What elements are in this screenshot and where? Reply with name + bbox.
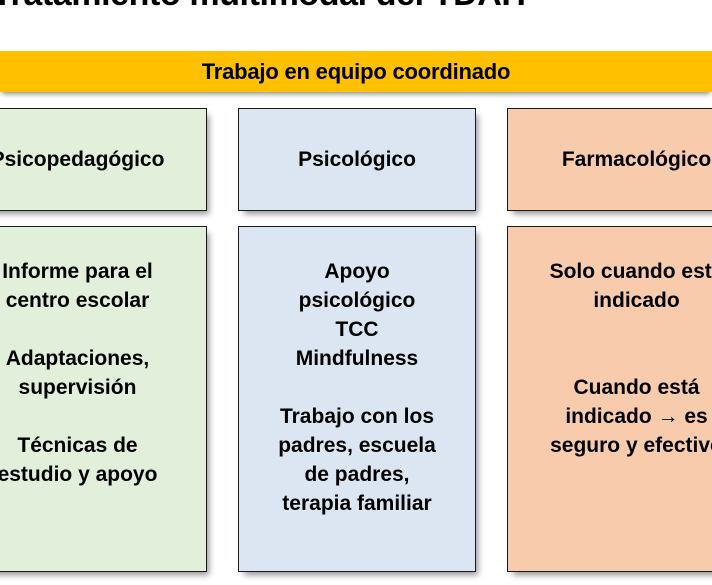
title-row: Tratamiento multimodal del TDAH Crecimie… — [0, 0, 712, 22]
card-body-text-farmacologico: Solo cuando está indicado Cuando está in… — [550, 227, 712, 460]
team-banner: Trabajo en equipo coordinado — [0, 51, 712, 92]
card-header-label-psicologico: Psicológico — [298, 147, 416, 173]
card-header-label-farmacologico: Farmacológico — [562, 147, 711, 173]
card-body-farmacologico[interactable]: Solo cuando está indicado Cuando está in… — [507, 226, 712, 572]
card-header-label-psicopedagogico: Psicopedagógico — [0, 147, 164, 173]
page-title: Tratamiento multimodal del TDAH — [0, 0, 552, 18]
card-body-psicopedagogico[interactable]: Informe para el centro escolar Adaptacio… — [0, 226, 207, 572]
card-header-psicopedagogico[interactable]: Psicopedagógico — [0, 108, 207, 211]
card-body-text-psicopedagogico: Informe para el centro escolar Adaptacio… — [0, 227, 157, 489]
team-banner-label: Trabajo en equipo coordinado — [202, 59, 511, 85]
card-body-text-psicologico: Apoyo psicológico TCC Mindfulness Trabaj… — [278, 227, 436, 518]
card-header-psicologico[interactable]: Psicológico — [238, 108, 476, 211]
brand-logo: Crecimiento Pleno — [603, 0, 712, 5]
card-header-farmacologico[interactable]: Farmacológico — [507, 108, 712, 211]
slide-canvas: Tratamiento multimodal del TDAH Crecimie… — [0, 0, 712, 585]
card-body-psicologico[interactable]: Apoyo psicológico TCC Mindfulness Trabaj… — [238, 226, 476, 572]
